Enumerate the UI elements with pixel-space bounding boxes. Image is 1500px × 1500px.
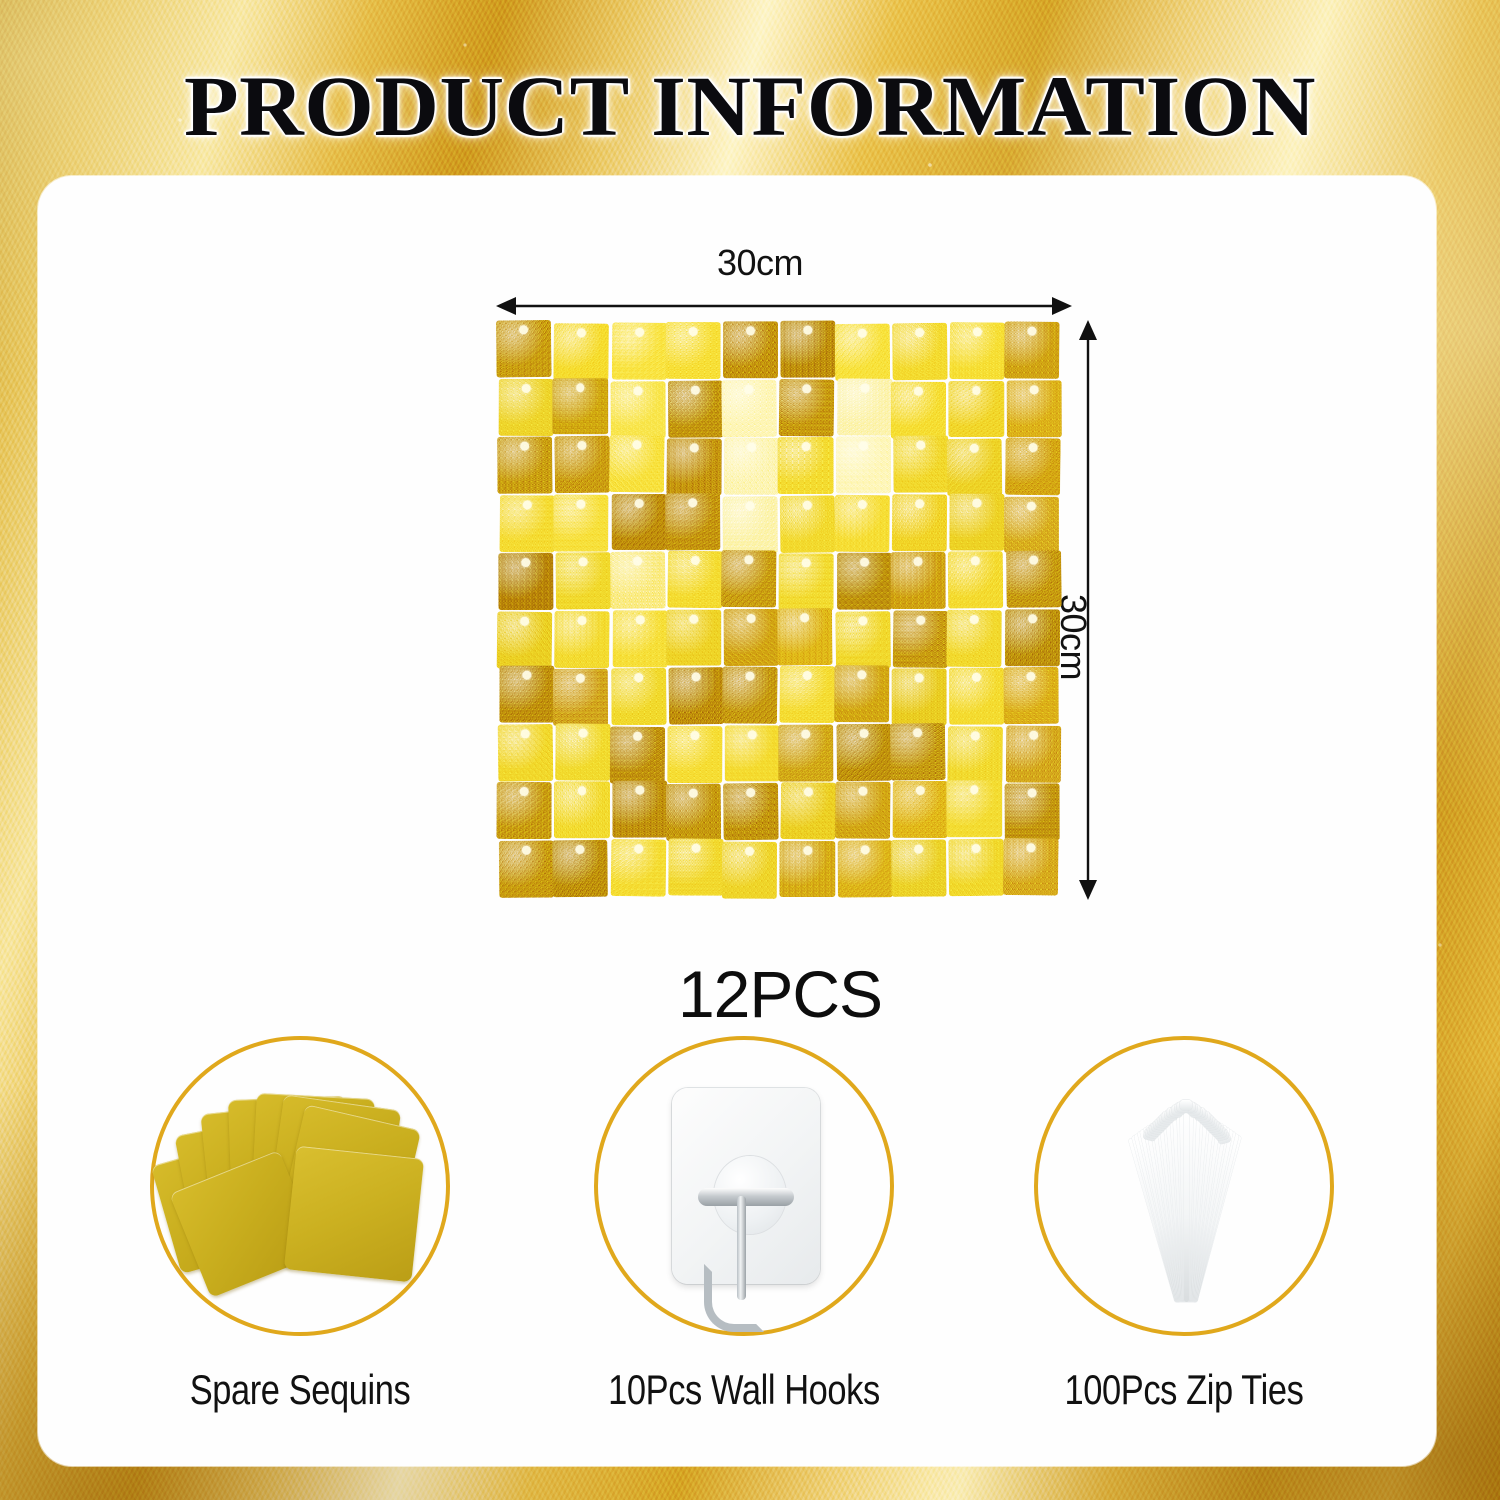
sequin-tile — [666, 784, 722, 841]
sequin-tile — [891, 381, 947, 438]
sequin-tile — [722, 666, 778, 723]
accessory-caption: Spare Sequins — [128, 1366, 472, 1414]
sequin-tile — [555, 436, 611, 493]
sequin-tile — [668, 380, 724, 437]
sequin-tile — [724, 608, 780, 665]
sequin-tile — [1004, 321, 1060, 378]
sequin-tile — [554, 610, 610, 667]
sequin-tile — [948, 726, 1004, 783]
sequin-tile — [781, 782, 837, 839]
sequin-tile — [553, 839, 609, 896]
product-information-poster: PRODUCT INFORMATION 30cm 30cm 12PCS — [0, 0, 1500, 1500]
sequin-tile — [666, 609, 721, 666]
sequin-tile — [836, 723, 892, 780]
page-title: PRODUCT INFORMATION — [0, 56, 1500, 156]
sequin-tile — [1003, 667, 1059, 724]
sequin-tile — [723, 321, 778, 378]
sequin-tile — [893, 610, 949, 667]
sequin-tile — [499, 840, 555, 897]
sequin-tile — [891, 839, 947, 896]
content-card: 30cm 30cm 12PCS — [38, 176, 1436, 1466]
sequin-panel-diagram: 30cm 30cm — [460, 242, 1100, 942]
sequin-tile — [556, 552, 612, 609]
sequin-tile — [553, 494, 609, 551]
sequin-tile — [724, 438, 780, 495]
quantity-label: 12PCS — [460, 956, 1100, 1032]
sequin-tile — [667, 551, 723, 608]
sequin-tile — [611, 668, 667, 725]
accessory-zip-ties: 100Pcs Zip Ties — [1034, 1036, 1334, 1336]
sequin-grid — [498, 322, 1060, 896]
sequin-tile — [610, 551, 666, 608]
sequin-tile — [834, 494, 890, 551]
sequin-tile — [500, 495, 556, 552]
accessory-caption: 100Pcs Zip Ties — [1012, 1366, 1356, 1414]
sequin-tile — [891, 552, 947, 609]
sequin-tile — [722, 841, 778, 898]
sequin-tile — [837, 378, 893, 435]
sequin-tile — [499, 666, 554, 723]
sequin-tile — [780, 666, 836, 723]
spare-sequins-icon — [150, 1036, 450, 1336]
accessory-spare-sequins: Spare Sequins — [150, 1036, 450, 1336]
sequin-tile — [1006, 550, 1062, 607]
sequin-tile — [610, 838, 666, 895]
sequin-tile — [780, 495, 836, 552]
sequin-tile — [555, 723, 611, 780]
accessory-caption: 10Pcs Wall Hooks — [572, 1366, 916, 1414]
sequin-tile — [779, 378, 835, 435]
sequin-tile — [609, 726, 665, 783]
sequin-tile — [892, 494, 948, 551]
sequin-tile — [778, 437, 833, 494]
sequin-tile — [721, 379, 777, 436]
sequin-tile — [948, 551, 1004, 608]
sequin-tile — [1005, 438, 1061, 495]
sequin-tile — [554, 323, 610, 380]
sequin-tile — [1004, 496, 1059, 553]
sequin-tile — [610, 381, 666, 438]
sequin-tile — [1004, 783, 1060, 840]
sequin-tile — [723, 496, 779, 553]
sequin-tile — [834, 665, 890, 722]
sequin-tile — [496, 320, 552, 377]
sequin-tile — [667, 725, 723, 782]
sequin-tile — [611, 493, 666, 550]
sequin-tile — [666, 438, 722, 495]
sequin-tile — [893, 781, 949, 838]
sequin-tile — [1006, 380, 1062, 437]
sequin-tile — [949, 668, 1005, 725]
sequin-tile — [554, 781, 609, 838]
zip-tie — [1184, 1106, 1189, 1302]
sequin-tile — [498, 723, 554, 780]
sequin-tile — [781, 320, 837, 377]
sequin-tile — [892, 668, 947, 725]
sequin-tile — [499, 378, 555, 435]
sequin-tile — [949, 381, 1004, 438]
sequin-tile — [665, 322, 721, 379]
wall-hook-icon — [594, 1036, 894, 1336]
sequin-tile — [553, 378, 608, 435]
sequin-tile — [779, 553, 835, 610]
sequin-tile — [835, 611, 891, 668]
sequin-tile — [835, 324, 891, 381]
sequin-tile — [721, 550, 777, 607]
sequin-tile — [949, 838, 1005, 895]
width-dimension-label: 30cm — [460, 242, 1060, 284]
sequin-tile — [947, 609, 1003, 666]
sequin-tile — [723, 783, 779, 840]
sequin-tile — [892, 323, 948, 380]
sequin-tile — [778, 608, 834, 665]
sequin-tile — [779, 724, 835, 781]
zip-ties-icon — [1034, 1036, 1334, 1336]
sequin-tile — [837, 840, 893, 897]
sequin-tile — [780, 841, 835, 898]
sequin-tile — [836, 436, 892, 493]
sequin-tile — [1006, 725, 1062, 782]
sequin-tile — [612, 610, 668, 667]
sequin-tile — [609, 435, 665, 492]
sequin-tile — [497, 611, 553, 668]
sequin-tile — [950, 493, 1006, 550]
sequin-tile — [947, 438, 1003, 495]
sequin-tile — [1005, 609, 1061, 666]
sequin-tile — [553, 669, 609, 726]
sequin-tile — [890, 722, 946, 779]
width-dimension-arrow — [496, 294, 1072, 318]
sequin-tile — [668, 838, 724, 895]
sequin-tile — [668, 667, 724, 724]
sequin-tile — [665, 493, 721, 550]
sequin-tile — [837, 553, 892, 610]
accessory-wall-hooks: 10Pcs Wall Hooks — [594, 1036, 894, 1336]
sequin-tile — [1003, 837, 1059, 894]
sequin-tile — [496, 782, 552, 839]
sequin-tile — [950, 322, 1006, 379]
sequin-tile — [611, 322, 667, 379]
sequin-tile — [893, 435, 949, 492]
sequin-tile — [835, 781, 891, 838]
sequin-tile — [612, 780, 668, 837]
zip-tie-head — [1180, 1100, 1192, 1110]
sequin-tile — [498, 553, 554, 610]
sequin-tile — [497, 436, 553, 493]
sequin-tile — [947, 780, 1002, 837]
sequin-tile — [725, 725, 780, 782]
